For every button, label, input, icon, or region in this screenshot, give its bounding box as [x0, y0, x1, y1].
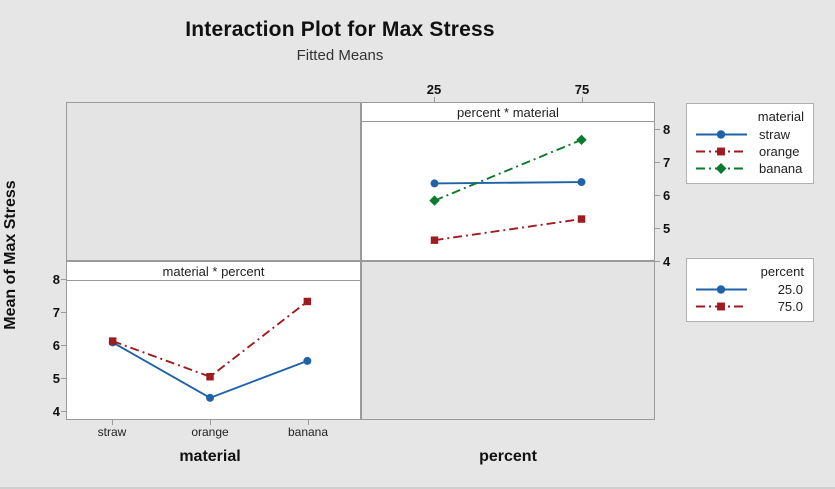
- left-tick-label-6: 6: [38, 338, 60, 353]
- right-tick-label-8: 8: [663, 122, 685, 137]
- top-tick-label-75: 75: [562, 82, 602, 97]
- bottom-tick-mark-straw: [112, 420, 113, 425]
- page-title: Interaction Plot for Max Stress: [0, 18, 680, 42]
- panel-matrix: percent * material material * percent: [66, 102, 655, 420]
- y-axis-title: Mean of Max Stress: [2, 150, 20, 360]
- data-point-marker: [717, 285, 725, 293]
- data-point-marker: [303, 357, 311, 365]
- panel-top-left-empty: [66, 102, 361, 261]
- series-line-straw: [435, 182, 582, 183]
- bottom-tick-label-straw: straw: [82, 425, 142, 439]
- left-tick-label-4: 4: [38, 404, 60, 419]
- data-point-marker: [578, 215, 585, 222]
- legend-label-banana: banana: [753, 161, 802, 176]
- bottom-tick-label-banana: banana: [278, 425, 338, 439]
- series-canvas-top-right: [362, 122, 654, 260]
- bottom-tick-mark-banana: [308, 420, 309, 425]
- plot-area-percent-by-material: [362, 122, 654, 260]
- panel-strip-label-top-right: percent * material: [362, 103, 654, 122]
- data-point-marker: [304, 298, 311, 305]
- legend-key-square-icon: [695, 299, 753, 314]
- panel-material-by-percent: material * percent: [66, 261, 361, 420]
- legend-material: material straworangebanana: [686, 103, 814, 184]
- data-point-marker: [109, 337, 116, 344]
- legend-label-orange: orange: [753, 144, 799, 159]
- bottom-tick-mark-orange: [210, 420, 211, 425]
- data-point-marker: [717, 303, 725, 311]
- data-point-marker: [578, 178, 586, 186]
- data-point-marker: [717, 130, 725, 138]
- left-tick-label-7: 7: [38, 305, 60, 320]
- legend-item-75.0[interactable]: 75.0: [695, 298, 805, 315]
- right-tick-mark-6: [655, 195, 660, 196]
- legend-percent: percent 25.075.0: [686, 258, 814, 322]
- data-point-marker: [206, 394, 214, 402]
- data-point-marker: [716, 163, 727, 174]
- series-line-25.0: [113, 342, 308, 397]
- legend-material-title: material: [695, 109, 805, 124]
- legend-key-square-icon: [695, 144, 753, 159]
- series-line-75.0: [113, 301, 308, 376]
- left-tick-label-5: 5: [38, 371, 60, 386]
- right-tick-label-5: 5: [663, 221, 685, 236]
- right-tick-label-4: 4: [663, 254, 685, 269]
- legend-percent-title: percent: [695, 264, 805, 279]
- data-point-marker: [431, 179, 439, 187]
- legend-key-circle-icon: [695, 127, 753, 142]
- legend-item-banana[interactable]: banana: [695, 160, 805, 177]
- plot-area-material-by-percent: [67, 281, 360, 419]
- bottom-tick-label-orange: orange: [180, 425, 240, 439]
- legend-key-circle-icon: [695, 282, 753, 297]
- series-line-banana: [435, 140, 582, 201]
- data-point-marker: [717, 148, 725, 156]
- right-tick-label-7: 7: [663, 155, 685, 170]
- x-axis-title-percent: percent: [438, 448, 578, 466]
- panel-strip-label-bottom-left: material * percent: [67, 262, 360, 281]
- panel-bottom-right-empty: [361, 261, 655, 420]
- legend-item-orange[interactable]: orange: [695, 143, 805, 160]
- data-point-marker: [576, 135, 586, 145]
- right-tick-mark-8: [655, 129, 660, 130]
- page-subtitle: Fitted Means: [0, 47, 680, 64]
- legend-key-diamond-icon: [695, 161, 753, 176]
- legend-label-straw: straw: [753, 127, 790, 142]
- legend-item-straw[interactable]: straw: [695, 126, 805, 143]
- legend-item-25.0[interactable]: 25.0: [695, 281, 805, 298]
- right-tick-label-6: 6: [663, 188, 685, 203]
- data-point-marker: [429, 195, 439, 205]
- right-tick-mark-5: [655, 228, 660, 229]
- right-tick-mark-7: [655, 162, 660, 163]
- series-line-orange: [435, 219, 582, 240]
- right-tick-mark-4: [655, 261, 660, 262]
- interaction-plot-figure: Interaction Plot for Max Stress Fitted M…: [0, 0, 835, 489]
- x-axis-title-material: material: [140, 448, 280, 466]
- left-tick-label-8: 8: [38, 272, 60, 287]
- top-tick-label-25: 25: [414, 82, 454, 97]
- legend-label-75.0: 75.0: [753, 299, 805, 314]
- legend-label-25.0: 25.0: [753, 282, 805, 297]
- data-point-marker: [431, 236, 438, 243]
- series-canvas-bottom-left: [67, 281, 360, 419]
- data-point-marker: [206, 373, 213, 380]
- panel-percent-by-material: percent * material: [361, 102, 655, 261]
